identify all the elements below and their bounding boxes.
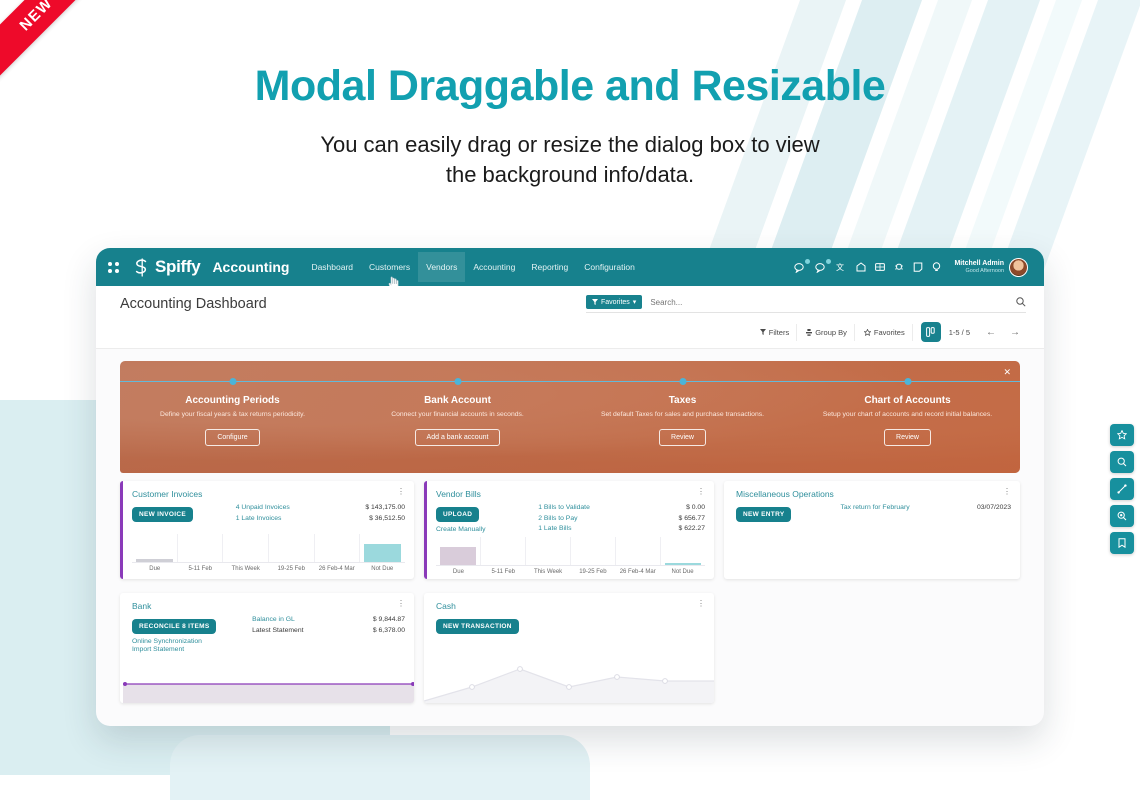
card-title: Vendor Bills bbox=[436, 489, 481, 499]
search-icon[interactable] bbox=[1110, 451, 1134, 473]
step-bullet bbox=[904, 378, 911, 385]
star-icon bbox=[864, 329, 871, 336]
axis-tick: Not Due bbox=[360, 563, 406, 577]
menu-item-accounting[interactable]: Accounting bbox=[465, 252, 523, 282]
favorites-filter-tag[interactable]: Favorites ▾ bbox=[586, 295, 642, 309]
dashboard-cards: Customer Invoices ⋮ NEW INVOICE 4 Unpaid… bbox=[96, 473, 1044, 703]
bug-icon[interactable] bbox=[894, 262, 904, 272]
breadcrumb: Accounting Dashboard bbox=[120, 296, 267, 312]
menu-item-reporting[interactable]: Reporting bbox=[523, 252, 576, 282]
bookmark-icon[interactable] bbox=[1110, 532, 1134, 554]
step-title: Bank Account bbox=[355, 395, 560, 406]
step-description: Connect your financial accounts in secon… bbox=[355, 410, 560, 420]
pager-next-button[interactable]: → bbox=[1004, 327, 1026, 338]
step-bullet bbox=[454, 378, 461, 385]
stat-label: 1 Bills to Validate bbox=[538, 503, 590, 514]
control-panel-row-top: Accounting Dashboard Favorites ▾ bbox=[120, 295, 1026, 313]
step-description: Set default Taxes for sales and purchase… bbox=[580, 410, 785, 420]
top-navbar: Spiffy Accounting Dashboard Customers Ve… bbox=[96, 248, 1044, 286]
card-actions: RECONCILE 8 ITEMS Online Synchronization… bbox=[132, 615, 252, 653]
chart-axis-labels: Due 5-11 Feb This Week 19-25 Feb 26 Feb-… bbox=[436, 565, 705, 579]
group-by-button[interactable]: Group By bbox=[799, 324, 855, 341]
navbar-right-tools: 文 Mitchell Adm bbox=[794, 258, 1032, 277]
stat-label: 1 Late Bills bbox=[538, 524, 571, 535]
onboarding-step-taxes: Taxes Set default Taxes for sales and pu… bbox=[570, 381, 795, 473]
axis-tick: 19-25 Feb bbox=[269, 563, 315, 577]
stat-row[interactable]: Tax return for February 03/07/2023 bbox=[841, 503, 1012, 514]
chart-customer-invoices-aging bbox=[132, 534, 405, 562]
stat-label: 1 Late Invoices bbox=[236, 514, 282, 525]
onboarding-steps: Accounting Periods Define your fiscal ye… bbox=[120, 361, 1020, 473]
card-customer-invoices[interactable]: Customer Invoices ⋮ NEW INVOICE 4 Unpaid… bbox=[120, 481, 414, 579]
kebab-menu-icon[interactable]: ⋮ bbox=[397, 601, 405, 607]
step-description: Setup your chart of accounts and record … bbox=[805, 410, 1010, 420]
stat-row[interactable]: 1 Late Bills $ 622.27 bbox=[538, 524, 705, 535]
spiffy-mark-icon bbox=[133, 258, 150, 277]
card-header: Customer Invoices ⋮ bbox=[120, 481, 414, 501]
pager-count: 1-5 / 5 bbox=[949, 328, 970, 337]
subtitle-line-1: You can easily drag or resize the dialog… bbox=[0, 130, 1140, 160]
favorites-label: Favorites bbox=[874, 328, 905, 337]
chart-cash-balance-trend bbox=[424, 647, 714, 703]
avatar[interactable] bbox=[1009, 258, 1028, 277]
resize-icon[interactable] bbox=[1110, 478, 1134, 500]
stat-row[interactable]: 1 Late Invoices $ 36,512.50 bbox=[236, 514, 405, 525]
brand-name: Spiffy bbox=[155, 257, 200, 277]
chevron-down-icon: ▾ bbox=[633, 298, 637, 306]
svg-text:文: 文 bbox=[836, 262, 844, 272]
menu-item-configuration[interactable]: Configuration bbox=[576, 252, 643, 282]
card-title: Bank bbox=[132, 601, 151, 611]
stat-label: Latest Statement bbox=[252, 626, 303, 637]
card-bank[interactable]: Bank ⋮ RECONCILE 8 ITEMS Online Synchron… bbox=[120, 593, 414, 703]
axis-tick: Due bbox=[436, 566, 481, 579]
axis-tick: This Week bbox=[223, 563, 269, 577]
group-icon bbox=[806, 329, 812, 336]
pager-prev-button[interactable]: ← bbox=[980, 327, 1002, 338]
stat-label: 2 Bills to Pay bbox=[538, 514, 577, 525]
axis-tick: Due bbox=[132, 563, 178, 577]
stat-value: $ 143,175.00 bbox=[365, 503, 405, 514]
filters-button[interactable]: Filters bbox=[753, 324, 797, 341]
background-blob-bottom bbox=[170, 735, 590, 800]
filters-label: Filters bbox=[769, 328, 789, 337]
user-text: Mitchell Admin Good Afternoon bbox=[954, 260, 1004, 274]
onboarding-step-chart-of-accounts: Chart of Accounts Setup your chart of ac… bbox=[795, 381, 1020, 473]
grid-icon[interactable] bbox=[875, 262, 885, 272]
search-input[interactable] bbox=[650, 298, 1016, 307]
activities-icon[interactable] bbox=[815, 262, 827, 273]
search-icon[interactable] bbox=[1016, 297, 1026, 307]
app-window: Spiffy Accounting Dashboard Customers Ve… bbox=[96, 248, 1044, 726]
card-header: Bank ⋮ bbox=[120, 593, 414, 613]
stat-value: $ 36,512.50 bbox=[369, 514, 405, 525]
card-cash[interactable]: Cash ⋮ NEW TRANSACTION bbox=[424, 593, 714, 703]
kebab-menu-icon[interactable]: ⋮ bbox=[397, 489, 405, 495]
review-coa-button[interactable]: Review bbox=[884, 429, 931, 446]
translate-icon[interactable]: 文 bbox=[836, 262, 847, 272]
nav-menu: Dashboard Customers Vendors Accounting R… bbox=[303, 252, 642, 282]
user-menu[interactable]: Mitchell Admin Good Afternoon bbox=[954, 258, 1028, 277]
filter-icon bbox=[592, 299, 598, 305]
onboarding-banner: ✕ Accounting Periods Define your fiscal … bbox=[120, 361, 1020, 473]
tax-return-label: Tax return for February bbox=[841, 503, 910, 514]
step-bullet bbox=[229, 378, 236, 385]
messages-icon[interactable] bbox=[794, 262, 806, 273]
upload-button[interactable]: UPLOAD bbox=[436, 507, 479, 522]
kebab-menu-icon[interactable]: ⋮ bbox=[697, 601, 705, 607]
stat-row[interactable]: 4 Unpaid Invoices $ 143,175.00 bbox=[236, 503, 405, 514]
stat-value: $ 622.27 bbox=[679, 524, 705, 535]
create-manually-link[interactable]: Create Manually bbox=[436, 526, 538, 533]
favorites-button[interactable]: Favorites bbox=[857, 324, 913, 341]
new-transaction-button[interactable]: NEW TRANSACTION bbox=[436, 619, 519, 634]
card-stats: Tax return for February 03/07/2023 bbox=[841, 503, 1012, 522]
filter-icon bbox=[760, 329, 766, 335]
card-title: Customer Invoices bbox=[132, 489, 202, 499]
reconcile-items-button[interactable]: RECONCILE 8 ITEMS bbox=[132, 619, 216, 634]
shop-icon[interactable] bbox=[856, 262, 866, 272]
floating-toolbar bbox=[1110, 424, 1134, 554]
page-root: NEW Modal Draggable and Resizable You ca… bbox=[0, 0, 1140, 800]
axis-tick: Not Due bbox=[660, 566, 705, 579]
search-bar[interactable]: Favorites ▾ bbox=[586, 295, 1026, 313]
card-body: UPLOAD Create Manually 1 Bills to Valida… bbox=[424, 501, 714, 535]
card-miscellaneous-operations[interactable]: Miscellaneous Operations ⋮ NEW ENTRY Tax… bbox=[724, 481, 1020, 579]
control-panel-row-bottom: Filters Group By Favorites 1 bbox=[120, 322, 1026, 342]
group-by-label: Group By bbox=[815, 328, 847, 337]
user-greeting: Good Afternoon bbox=[954, 268, 1004, 274]
axis-tick: 5-11 Feb bbox=[178, 563, 224, 577]
step-title: Chart of Accounts bbox=[805, 395, 1010, 406]
favorites-tag-label: Favorites bbox=[601, 299, 630, 306]
stat-row[interactable]: Balance in GL $ 9,844.87 bbox=[252, 615, 405, 626]
new-entry-button[interactable]: NEW ENTRY bbox=[736, 507, 791, 522]
card-vendor-bills[interactable]: Vendor Bills ⋮ UPLOAD Create Manually 1 … bbox=[424, 481, 714, 579]
axis-tick: 26 Feb-4 Mar bbox=[314, 563, 360, 577]
star-icon[interactable] bbox=[1110, 424, 1134, 446]
card-stats: 1 Bills to Validate $ 0.00 2 Bills to Pa… bbox=[538, 503, 705, 535]
step-description: Define your fiscal years & tax returns p… bbox=[130, 410, 335, 420]
card-stats: Balance in GL $ 9,844.87 Latest Statemen… bbox=[252, 615, 405, 653]
stat-row[interactable]: 2 Bills to Pay $ 656.77 bbox=[538, 514, 705, 525]
subtitle-line-2: the background info/data. bbox=[0, 160, 1140, 190]
apps-grid-icon[interactable] bbox=[108, 262, 119, 273]
brand-logo[interactable]: Spiffy bbox=[133, 257, 200, 277]
axis-tick: 26 Feb-4 Mar bbox=[615, 566, 660, 579]
control-panel: Accounting Dashboard Favorites ▾ bbox=[96, 286, 1044, 349]
page-subtitle: You can easily drag or resize the dialog… bbox=[0, 130, 1140, 190]
app-name: Accounting bbox=[212, 259, 289, 275]
card-header: Miscellaneous Operations ⋮ bbox=[724, 481, 1020, 501]
card-actions: NEW INVOICE bbox=[132, 503, 236, 524]
stat-label: Balance in GL bbox=[252, 615, 295, 626]
card-body: NEW TRANSACTION bbox=[424, 613, 714, 634]
tip-icon[interactable] bbox=[932, 262, 941, 273]
axis-tick: 5-11 Feb bbox=[481, 566, 526, 579]
card-actions: NEW TRANSACTION bbox=[436, 615, 705, 634]
menu-item-vendors[interactable]: Vendors bbox=[418, 252, 465, 282]
stat-row[interactable]: 1 Bills to Validate $ 0.00 bbox=[538, 503, 705, 514]
step-title: Taxes bbox=[580, 395, 785, 406]
close-icon[interactable]: ✕ bbox=[1003, 367, 1011, 378]
card-actions: UPLOAD Create Manually bbox=[436, 503, 538, 535]
axis-tick: This Week bbox=[526, 566, 571, 579]
chart-axis-labels: Due 5-11 Feb This Week 19-25 Feb 26 Feb-… bbox=[132, 562, 405, 577]
stat-value: $ 656.77 bbox=[679, 514, 705, 525]
axis-tick: 19-25 Feb bbox=[570, 566, 615, 579]
card-body: NEW ENTRY Tax return for February 03/07/… bbox=[724, 501, 1020, 522]
new-invoice-button[interactable]: NEW INVOICE bbox=[132, 507, 193, 522]
step-bullet bbox=[679, 378, 686, 385]
page-title: Modal Draggable and Resizable bbox=[0, 62, 1140, 111]
stat-value: $ 9,844.87 bbox=[373, 615, 405, 626]
kebab-menu-icon[interactable]: ⋮ bbox=[697, 489, 705, 495]
zoom-search-icon[interactable] bbox=[1110, 505, 1134, 527]
note-icon[interactable] bbox=[913, 262, 923, 272]
card-actions: NEW ENTRY bbox=[736, 503, 841, 522]
chart-vendor-bills-aging bbox=[436, 537, 705, 565]
tax-return-date: 03/07/2023 bbox=[977, 503, 1011, 514]
menu-item-dashboard[interactable]: Dashboard bbox=[303, 252, 361, 282]
stat-value: $ 6,378.00 bbox=[373, 626, 405, 637]
card-title: Cash bbox=[436, 601, 456, 611]
card-header: Cash ⋮ bbox=[424, 593, 714, 613]
review-taxes-button[interactable]: Review bbox=[659, 429, 706, 446]
card-stats: 4 Unpaid Invoices $ 143,175.00 1 Late In… bbox=[236, 503, 405, 524]
kanban-view-icon[interactable] bbox=[921, 322, 941, 342]
onboarding-step-accounting-periods: Accounting Periods Define your fiscal ye… bbox=[120, 381, 345, 473]
stat-label: 4 Unpaid Invoices bbox=[236, 503, 290, 514]
card-body: RECONCILE 8 ITEMS Online Synchronization… bbox=[120, 613, 414, 653]
stat-row[interactable]: Latest Statement $ 6,378.00 bbox=[252, 626, 405, 637]
kebab-menu-icon[interactable]: ⋮ bbox=[1003, 489, 1011, 495]
online-synchronization-link[interactable]: Online Synchronization bbox=[132, 638, 252, 645]
card-header: Vendor Bills ⋮ bbox=[424, 481, 714, 501]
chart-bank-balance-trend bbox=[123, 679, 414, 703]
step-title: Accounting Periods bbox=[130, 395, 335, 406]
add-bank-account-button[interactable]: Add a bank account bbox=[415, 429, 501, 446]
card-title: Miscellaneous Operations bbox=[736, 489, 834, 499]
stat-value: $ 0.00 bbox=[686, 503, 705, 514]
import-statement-link[interactable]: Import Statement bbox=[132, 646, 252, 653]
onboarding-step-bank-account: Bank Account Connect your financial acco… bbox=[345, 381, 570, 473]
card-body: NEW INVOICE 4 Unpaid Invoices $ 143,175.… bbox=[120, 501, 414, 524]
configure-button[interactable]: Configure bbox=[205, 429, 259, 446]
user-name: Mitchell Admin bbox=[954, 260, 1004, 268]
